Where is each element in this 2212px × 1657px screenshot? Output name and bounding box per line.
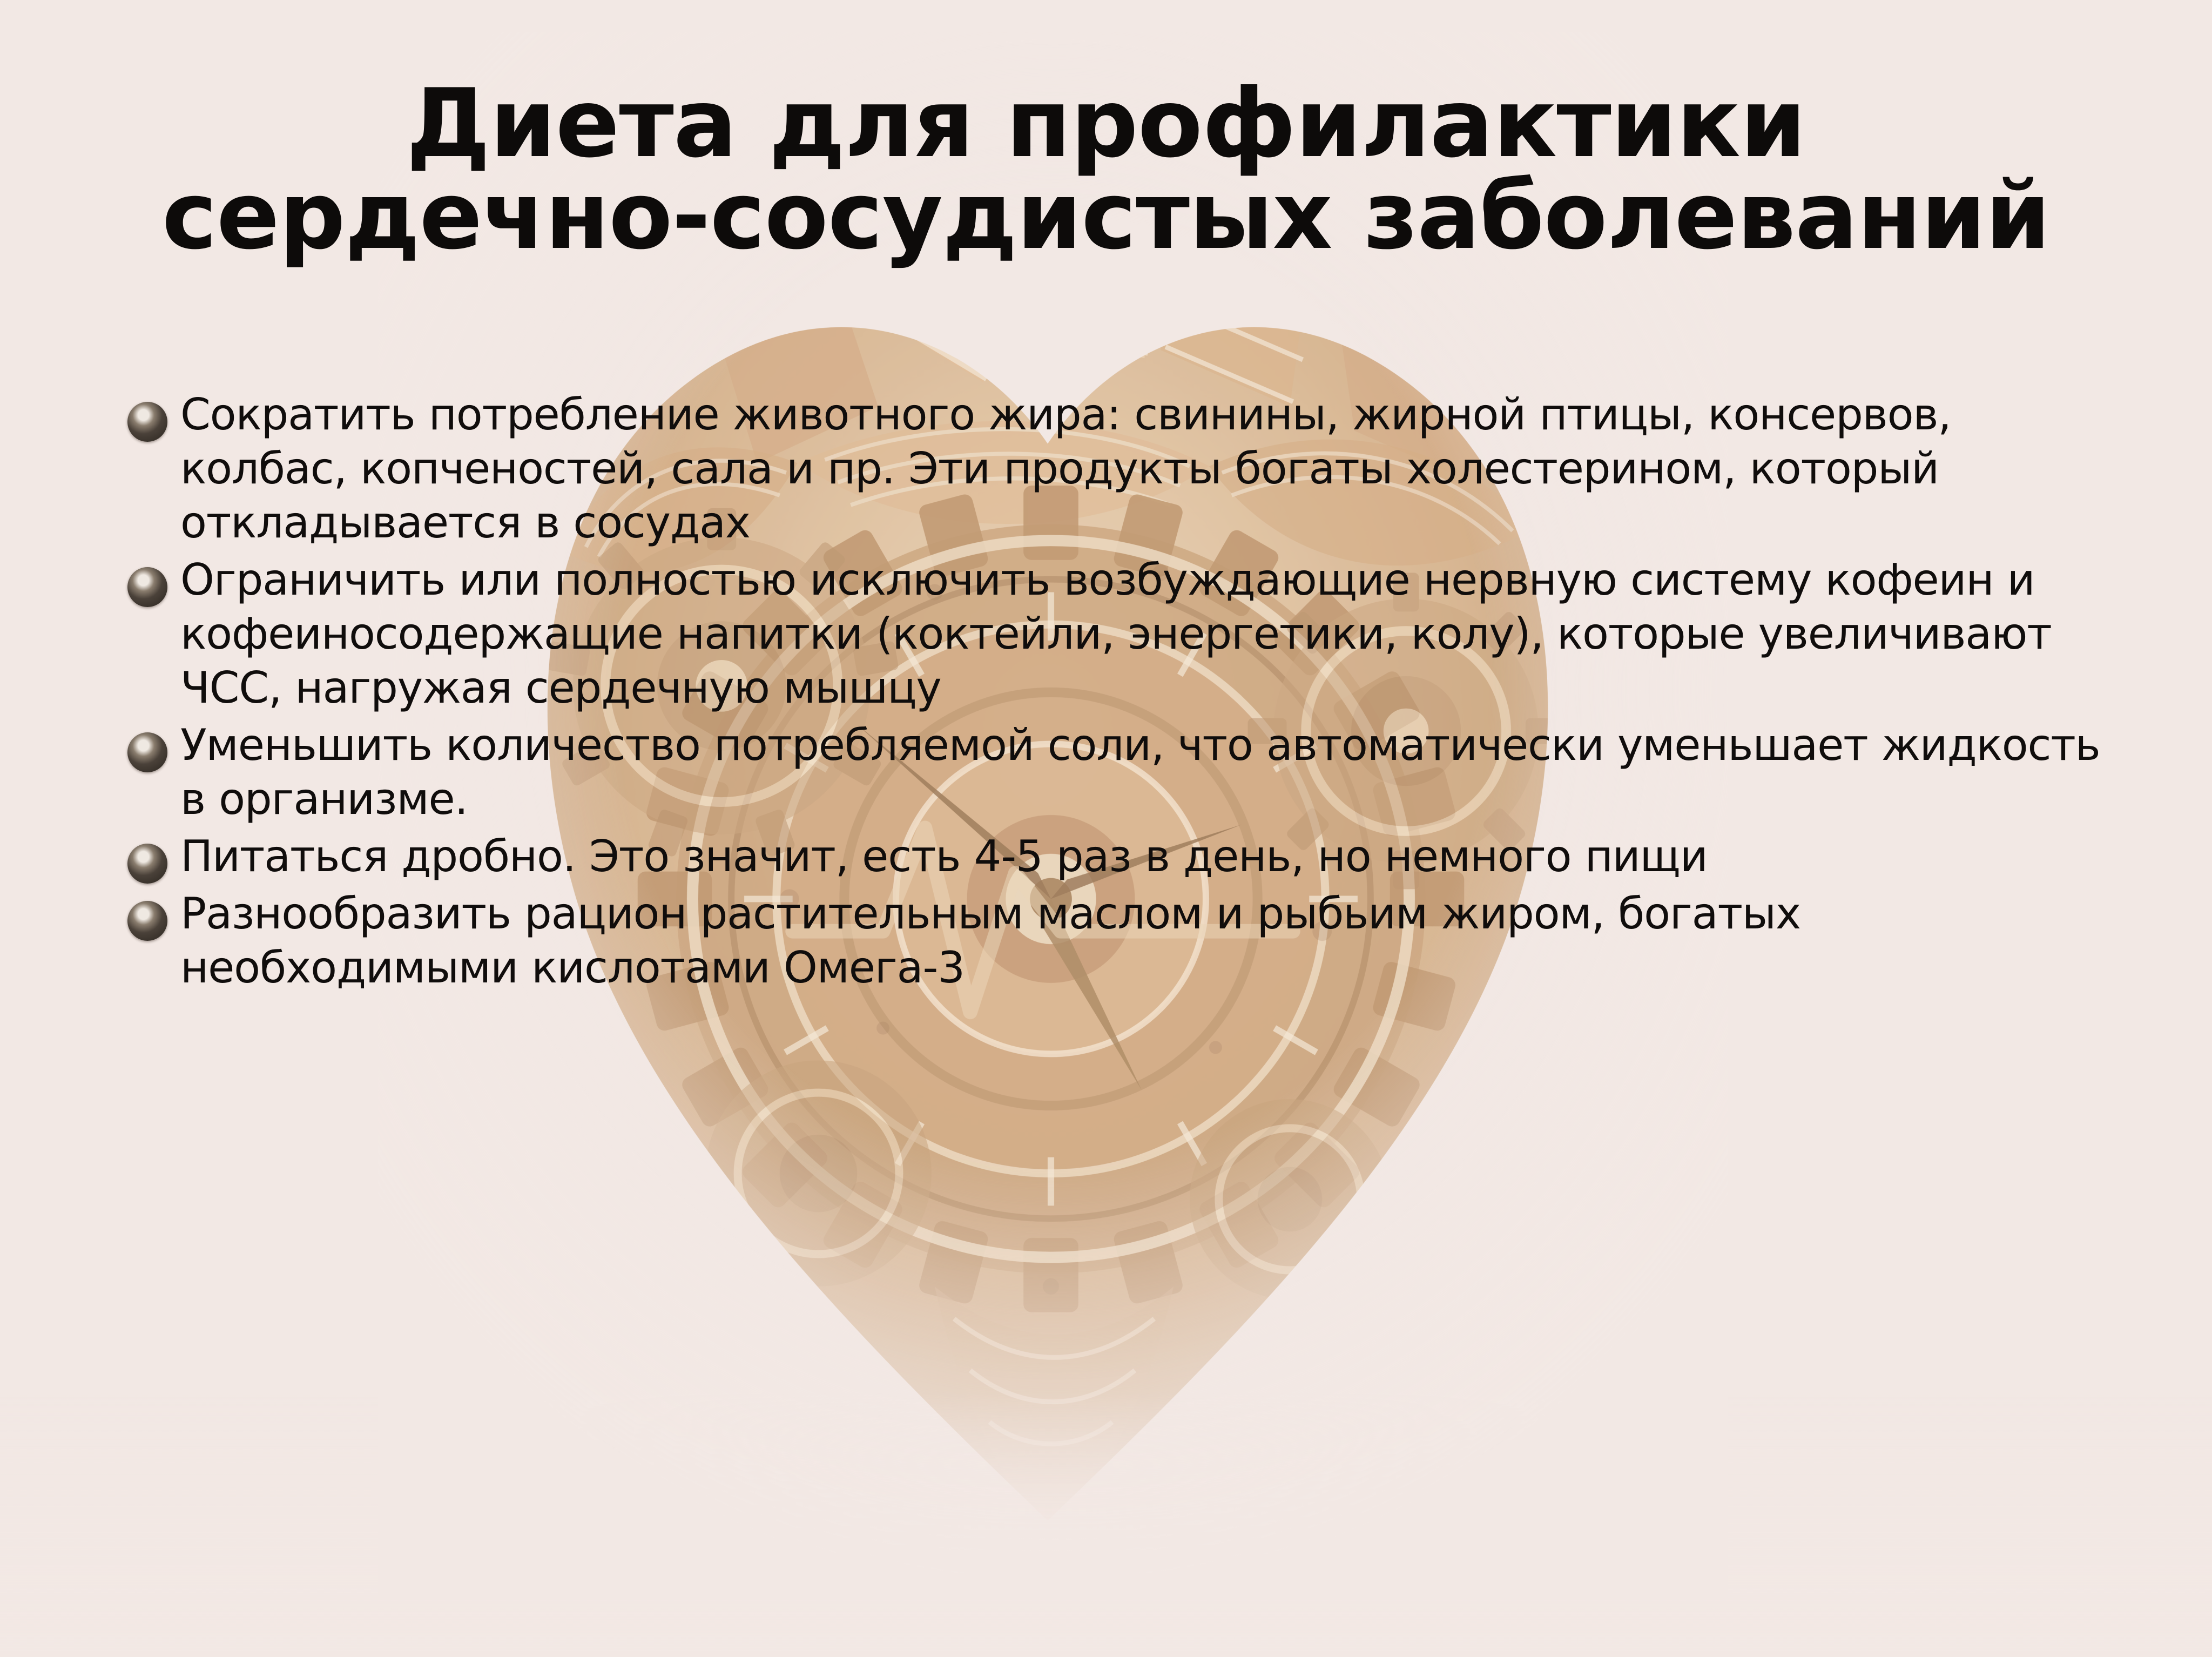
bullet-list: Сократить потребление животного жира: св… bbox=[127, 388, 2104, 998]
list-item-text: Разнообразить рацион растительным маслом… bbox=[180, 887, 2104, 995]
list-item-text: Сократить потребление животного жира: св… bbox=[180, 388, 2104, 550]
list-item: Уменьшить количество потребляемой соли, … bbox=[127, 718, 2104, 826]
sphere-bullet-icon bbox=[127, 901, 167, 941]
list-item: Ограничить или полностью исключить возбу… bbox=[127, 553, 2104, 715]
slide-title-line-1: Диета для профилактики bbox=[0, 78, 2212, 170]
slide-title: Диета для профилактики сердечно-сосудист… bbox=[0, 78, 2212, 262]
list-item-text: Ограничить или полностью исключить возбу… bbox=[180, 553, 2104, 715]
slide-title-line-2: сердечно-сосудистых заболеваний bbox=[0, 170, 2212, 262]
list-item-text: Питаться дробно. Это значит, есть 4-5 ра… bbox=[180, 830, 2104, 884]
sphere-bullet-icon bbox=[127, 732, 167, 772]
list-item-text: Уменьшить количество потребляемой соли, … bbox=[180, 718, 2104, 826]
sphere-bullet-icon bbox=[127, 567, 167, 607]
slide-canvas: Диета для профилактики сердечно-сосудист… bbox=[0, 0, 2212, 1657]
list-item: Сократить потребление животного жира: св… bbox=[127, 388, 2104, 550]
sphere-bullet-icon bbox=[127, 402, 167, 442]
sphere-bullet-icon bbox=[127, 844, 167, 884]
list-item: Разнообразить рацион растительным маслом… bbox=[127, 887, 2104, 995]
list-item: Питаться дробно. Это значит, есть 4-5 ра… bbox=[127, 830, 2104, 884]
